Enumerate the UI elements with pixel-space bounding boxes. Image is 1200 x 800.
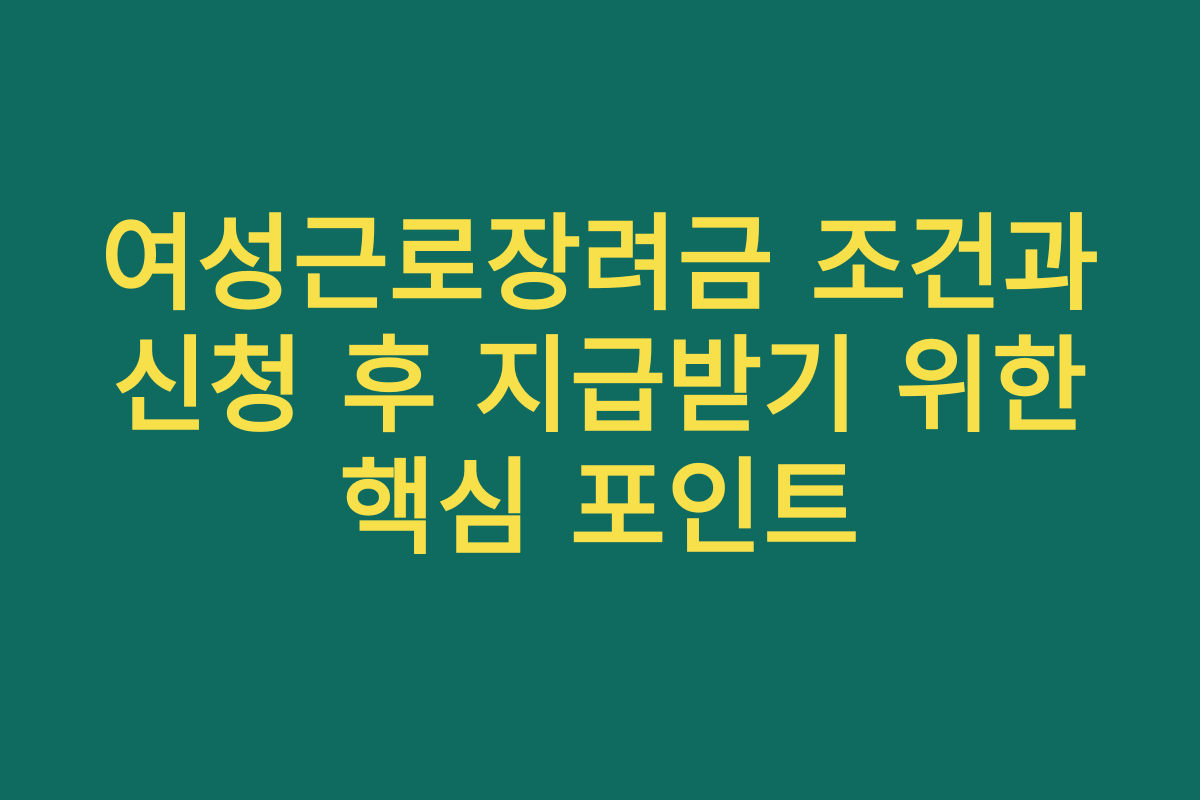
headline-line-1: 여성근로장려금 조건과	[30, 203, 1170, 325]
headline-line-3: 핵심 포인트	[30, 447, 1170, 569]
headline-block: 여성근로장려금 조건과 신청 후 지급받기 위한 핵심 포인트	[30, 203, 1170, 569]
headline-line-2: 신청 후 지급받기 위한	[30, 325, 1170, 447]
title-card: 여성근로장려금 조건과 신청 후 지급받기 위한 핵심 포인트	[0, 0, 1200, 800]
